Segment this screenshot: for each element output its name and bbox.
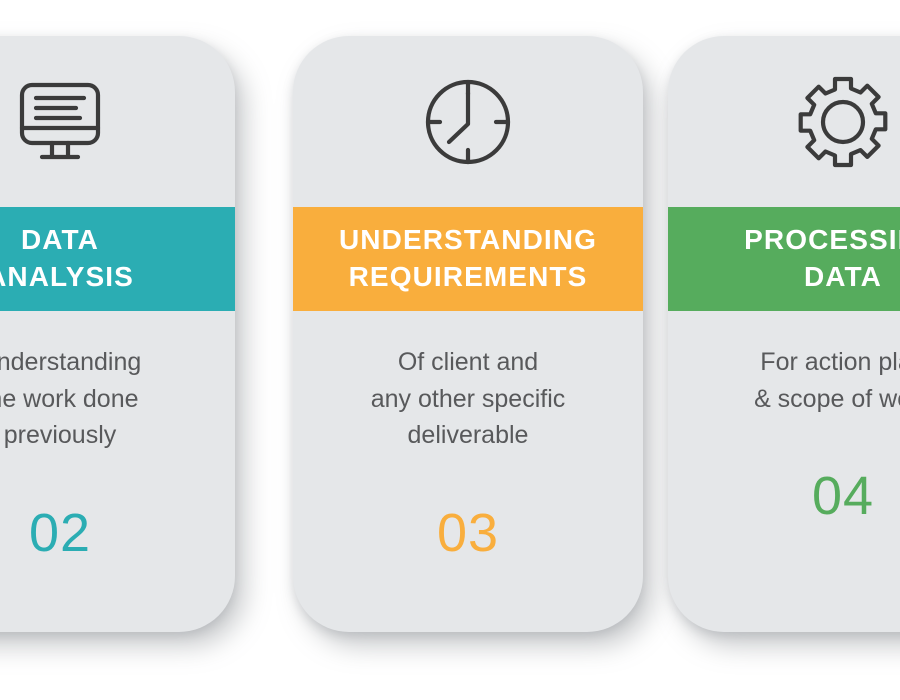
card-desc-line-3: previously bbox=[0, 417, 141, 454]
card-title-line-2: DATA bbox=[804, 259, 882, 296]
monitor-document-icon bbox=[12, 78, 108, 166]
step-card-understanding-requirements[interactable]: UNDERSTANDING REQUIREMENTS Of client and… bbox=[293, 36, 643, 632]
gear-icon bbox=[793, 72, 893, 172]
card-title-line-2: ANALYSIS bbox=[0, 259, 134, 296]
card-title-line-1: PROCESSING bbox=[744, 222, 900, 259]
card-description: For action plan & scope of work bbox=[754, 344, 900, 417]
card-description: Understanding the work done previously bbox=[0, 344, 141, 454]
card-body: For action plan & scope of work 04 bbox=[668, 311, 900, 632]
card-body: Of client and any other specific deliver… bbox=[293, 311, 643, 632]
card-description: Of client and any other specific deliver… bbox=[371, 344, 566, 454]
card-step-number: 02 bbox=[29, 506, 91, 560]
card-icon-area bbox=[0, 36, 235, 207]
card-desc-line-2: & scope of work bbox=[754, 381, 900, 418]
card-desc-line-3: deliverable bbox=[371, 417, 566, 454]
card-title-line-2: REQUIREMENTS bbox=[349, 259, 588, 296]
step-card-processing-data[interactable]: PROCESSING DATA For action plan & scope … bbox=[668, 36, 900, 632]
card-icon-area bbox=[293, 36, 643, 207]
clock-icon bbox=[420, 74, 516, 170]
card-desc-line-1: Of client and bbox=[371, 344, 566, 381]
card-desc-line-2: any other specific bbox=[371, 381, 566, 418]
card-step-number: 04 bbox=[812, 469, 874, 523]
card-title-line-1: DATA bbox=[21, 222, 99, 259]
card-desc-line-1: For action plan bbox=[754, 344, 900, 381]
card-body: Understanding the work done previously 0… bbox=[0, 311, 235, 632]
card-desc-line-1: Understanding bbox=[0, 344, 141, 381]
card-title-line-1: UNDERSTANDING bbox=[339, 222, 597, 259]
card-title-band: UNDERSTANDING REQUIREMENTS bbox=[293, 207, 643, 311]
card-step-number: 03 bbox=[437, 506, 499, 560]
card-desc-line-2: the work done bbox=[0, 381, 141, 418]
infographic-canvas: DATA ANALYSIS Understanding the work don… bbox=[0, 0, 900, 700]
card-title-band: PROCESSING DATA bbox=[668, 207, 900, 311]
card-icon-area bbox=[668, 36, 900, 207]
step-card-data-analysis[interactable]: DATA ANALYSIS Understanding the work don… bbox=[0, 36, 235, 632]
card-title-band: DATA ANALYSIS bbox=[0, 207, 235, 311]
